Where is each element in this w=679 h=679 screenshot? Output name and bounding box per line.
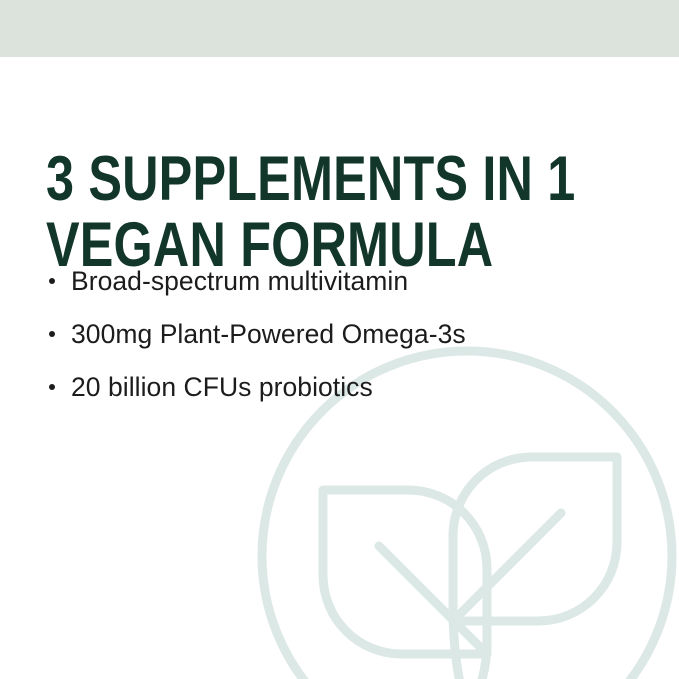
list-item: Broad-spectrum multivitamin <box>44 266 644 319</box>
list-item: 300mg Plant-Powered Omega-3s <box>44 319 644 372</box>
bullet-dot-icon <box>49 278 55 284</box>
bullet-dot-icon <box>49 384 55 390</box>
feature-bullet-list: Broad-spectrum multivitamin 300mg Plant-… <box>44 266 644 425</box>
list-item-label: 20 billion CFUs probiotics <box>71 372 373 402</box>
bullet-dot-icon <box>49 331 55 337</box>
list-item-label: Broad-spectrum multivitamin <box>71 266 408 296</box>
list-item-label: 300mg Plant-Powered Omega-3s <box>71 319 466 349</box>
page-title: 3 SUPPLEMENTS IN 1 VEGAN FORMULA <box>46 146 526 278</box>
page-title-line-1: 3 SUPPLEMENTS IN 1 <box>46 146 526 212</box>
card-content: 3 SUPPLEMENTS IN 1 VEGAN FORMULA Broad-s… <box>0 0 679 679</box>
list-item: 20 billion CFUs probiotics <box>44 372 644 425</box>
promo-card: 3 SUPPLEMENTS IN 1 VEGAN FORMULA Broad-s… <box>0 0 679 679</box>
